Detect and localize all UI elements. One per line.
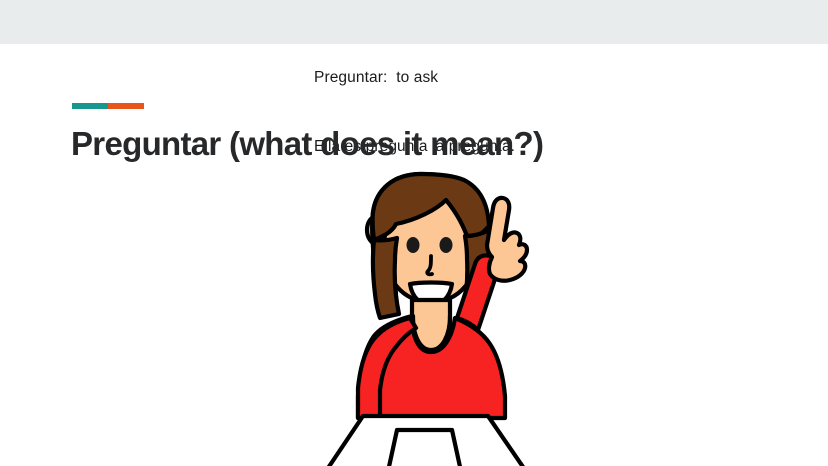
accent-rule-orange-segment [108,103,144,109]
slide-canvas: Preguntar: to ask Ella es pregunta la pr… [0,0,828,466]
notes-banner: Preguntar: to ask Ella es pregunta la pr… [0,0,828,44]
girl-raising-hand-icon [300,160,550,466]
illustration-girl-raising-hand [300,160,550,466]
page-title: Preguntar (what does it mean?) [71,124,543,164]
notes-line-vocabulary: Preguntar: to ask [314,66,794,89]
title-accent-rule [72,103,144,109]
accent-rule-teal-segment [72,103,108,109]
